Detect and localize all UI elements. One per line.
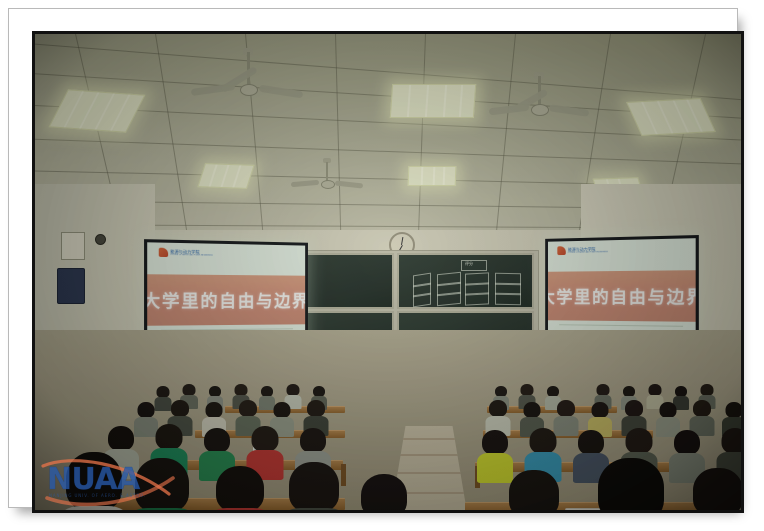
ceiling-light-panel — [626, 98, 716, 136]
student-foreground — [211, 466, 269, 510]
ceiling-fan — [213, 52, 283, 102]
photo-card: 评分 — [8, 8, 738, 508]
student — [555, 400, 577, 430]
student-foreground — [505, 470, 563, 510]
chalk-cell — [413, 293, 431, 308]
student-foreground — [131, 458, 193, 510]
logo-english-name: COLLEGE OF ENERGY AND POWER ENGINEERING — [568, 251, 608, 253]
wall-speaker-dot — [95, 234, 106, 245]
student-foreground — [595, 458, 667, 510]
student — [305, 400, 327, 430]
student-foreground — [689, 468, 741, 510]
slide-title-text: 大学里的自由与边界 — [545, 283, 699, 309]
logo-book-icon — [558, 246, 566, 255]
logo-english-name: COLLEGE OF ENERGY AND POWER ENGINEERING — [170, 254, 213, 256]
chalk-cell — [437, 292, 461, 307]
wall-mounted-blue-box — [57, 268, 85, 304]
slide-title-band-left: 大学里的自由与边界 — [147, 275, 305, 326]
college-logo-right: 能源与动力学院 COLLEGE OF ENERGY AND POWER ENGI… — [558, 245, 616, 255]
slide-header-left: 能源与动力学院 COLLEGE OF ENERGY AND POWER ENGI… — [147, 242, 305, 276]
ceiling-light-panel — [49, 89, 146, 132]
chalk-cell — [465, 292, 489, 305]
student — [691, 400, 713, 430]
student — [527, 428, 559, 474]
student — [623, 400, 645, 430]
ceiling-fan — [305, 162, 349, 196]
student — [487, 400, 509, 430]
ceiling-light-panel — [408, 166, 457, 186]
chalk-heading-text: 评分 — [465, 261, 473, 267]
student-foreground — [357, 474, 411, 510]
slide-title-text: 大学里的自由与边界 — [144, 287, 308, 313]
slide-header-right: 能源与动力学院 COLLEGE OF ENERGY AND POWER ENGI… — [548, 238, 696, 272]
student-foreground — [63, 452, 125, 510]
ceiling-light-panel — [390, 84, 476, 118]
lecture-hall-photograph: 评分 — [35, 34, 741, 510]
slide-title-band-right: 大学里的自由与边界 — [548, 271, 696, 322]
logo-book-icon — [159, 248, 168, 257]
screenshot-root: 评分 — [0, 0, 764, 531]
chalk-cell — [495, 293, 521, 305]
ceiling-light-panel — [197, 163, 254, 189]
blackboard-panel-right-top: 评分 — [397, 253, 534, 309]
student — [657, 402, 679, 432]
college-logo-left: 能源与动力学院 COLLEGE OF ENERGY AND POWER ENGI… — [159, 248, 220, 258]
student-foreground — [285, 462, 343, 510]
photo-frame: 评分 — [32, 31, 744, 513]
wall-control-panel — [61, 232, 85, 260]
ceiling-fan — [509, 76, 569, 122]
student — [589, 402, 611, 432]
slide-divider — [559, 324, 683, 327]
